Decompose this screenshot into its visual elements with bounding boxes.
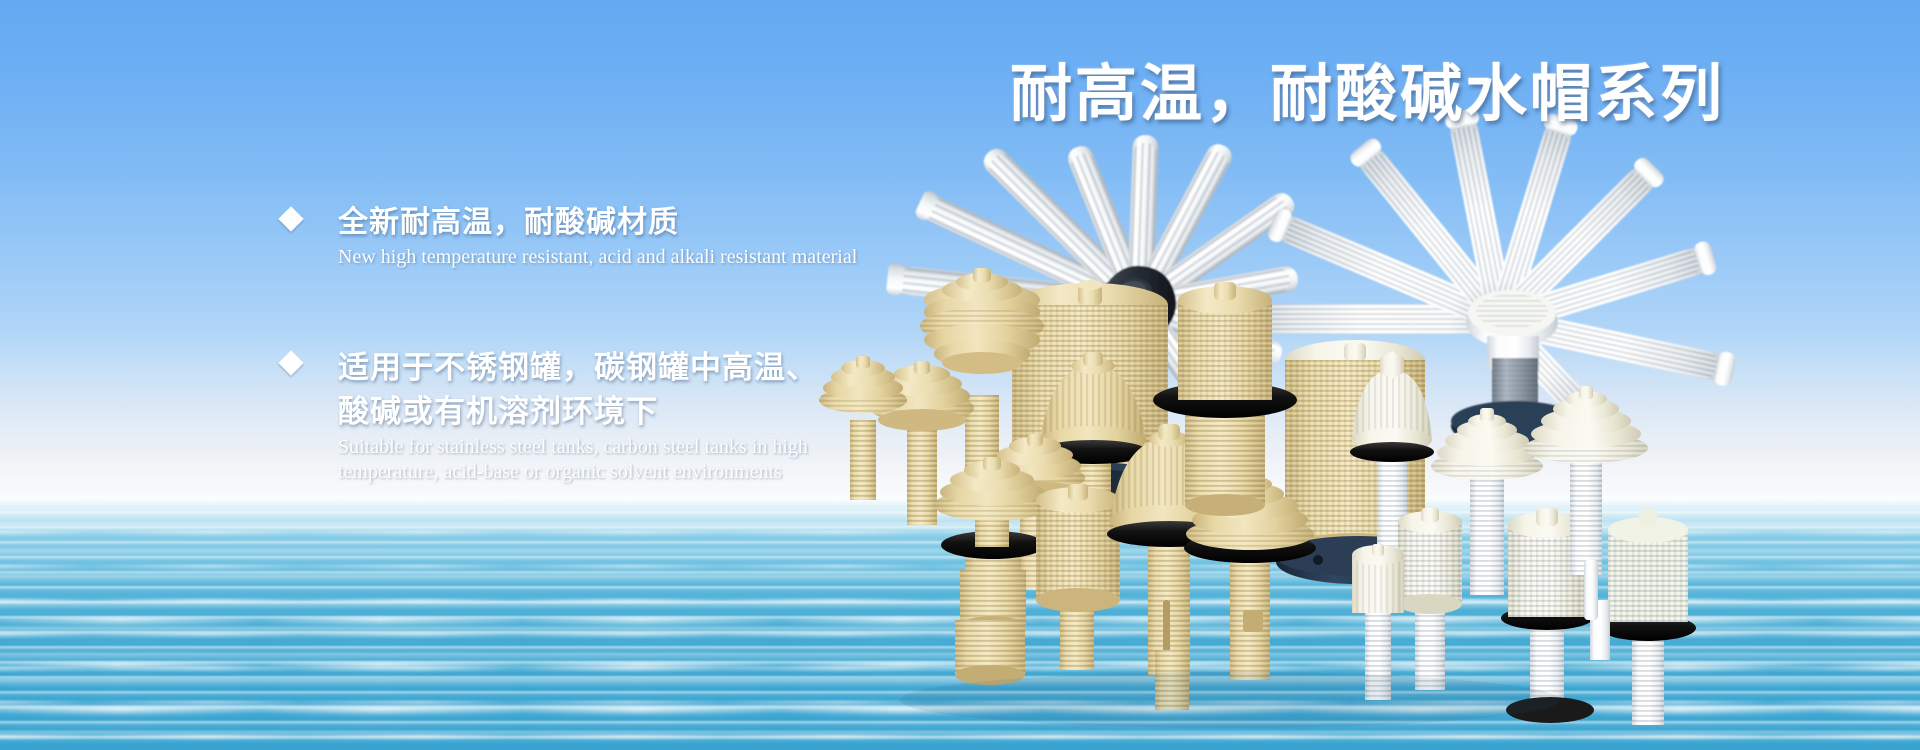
feature-2-title-en: Suitable for stainless steel tanks, carb… xyxy=(338,435,1042,485)
feature-item-1: 全新耐高温，耐酸碱材质 New high temperature resista… xyxy=(282,202,1042,270)
feature-1-title-cn: 全新耐高温，耐酸碱材质 xyxy=(338,202,1042,244)
water-cap-nozzle xyxy=(955,620,1025,685)
promotional-banner: 耐高温，耐酸碱水帽系列 全新耐高温，耐酸碱材质 New high tempera… xyxy=(0,0,1920,750)
water-cap-nozzle xyxy=(1584,560,1610,660)
feature-1-title-en: New high temperature resistant, acid and… xyxy=(338,245,1042,270)
page-title: 耐高温，耐酸碱水帽系列 xyxy=(1010,58,1725,129)
water-cap-nozzle xyxy=(1600,507,1696,725)
diamond-bullet-icon xyxy=(278,206,303,231)
diamond-bullet-icon xyxy=(278,350,303,375)
water-cap-nozzle xyxy=(1036,484,1120,670)
feature-2-title-cn: 适用于不锈钢罐，碳钢罐中高温、 酸碱或有机溶剂环境下 xyxy=(338,346,1042,434)
feature-item-2: 适用于不锈钢罐，碳钢罐中高温、 酸碱或有机溶剂环境下 Suitable for … xyxy=(282,346,1042,485)
water-cap-nozzle xyxy=(1398,508,1462,690)
feature-list: 全新耐高温，耐酸碱材质 New high temperature resista… xyxy=(282,202,1042,537)
